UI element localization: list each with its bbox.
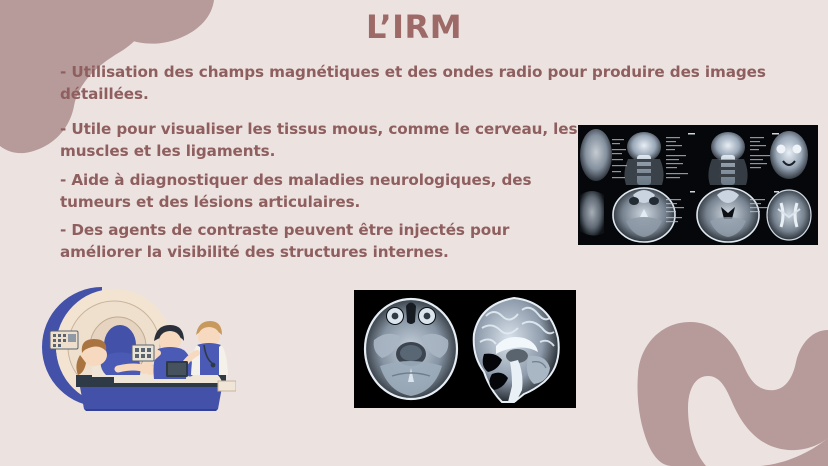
bullet-point-4: - Des agents de contraste peuvent être i… — [60, 220, 580, 263]
slide-canvas: L’IRM - Utilisation des champs magnétiqu… — [0, 0, 828, 466]
bottom-right-wave-tail — [760, 438, 828, 466]
mri-brain-scan-image — [354, 290, 576, 408]
mri-scan-grid-image — [578, 125, 818, 245]
bullet-point-1: - Utilisation des champs magnétiques et … — [60, 62, 828, 105]
bullet-point-3: - Aide à diagnostiquer des maladies neur… — [60, 170, 580, 213]
bottom-right-wave — [637, 322, 828, 466]
bullet-point-2: - Utile pour visualiser les tissus mous,… — [60, 119, 580, 162]
page-title: L’IRM — [0, 8, 828, 46]
mri-machine-illustration — [14, 283, 236, 411]
